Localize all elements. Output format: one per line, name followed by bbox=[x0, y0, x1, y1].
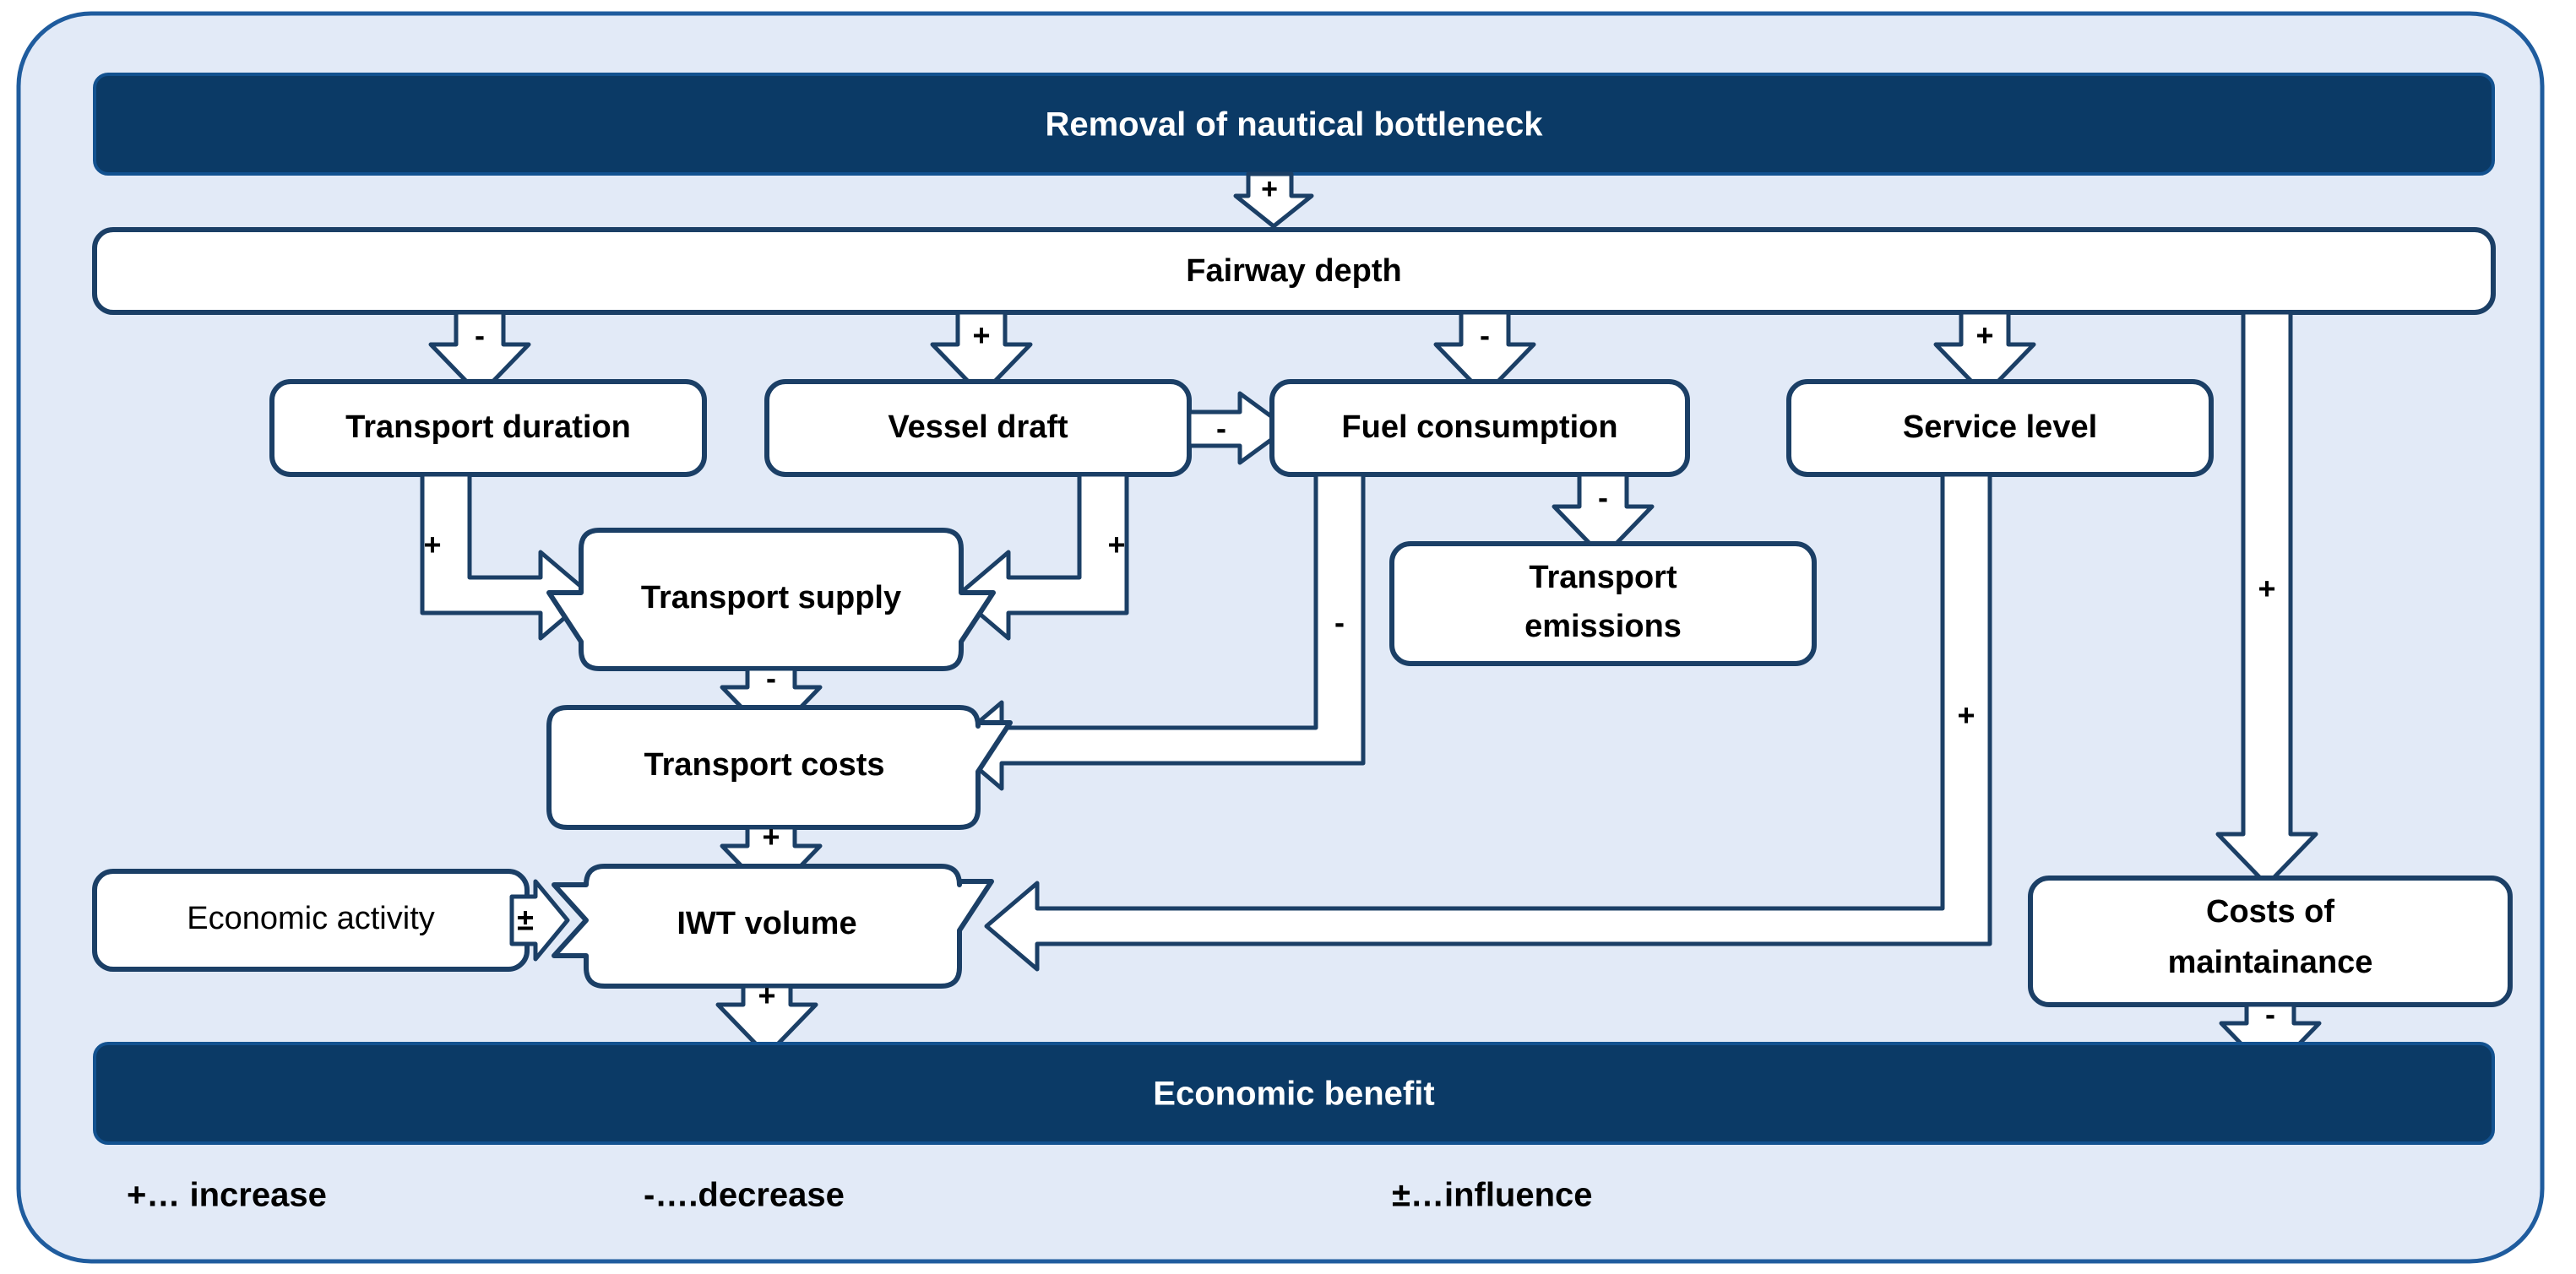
edge-fairway-depth-to-costs-of-maintainance-sign: + bbox=[2258, 572, 2275, 606]
edge-fairway-depth-to-service-level-sign: + bbox=[1975, 318, 1993, 353]
node-transport-costs-label: Transport costs bbox=[644, 747, 884, 783]
band-economic-benefit-label: Economic benefit bbox=[1153, 1076, 1434, 1113]
edge-fairway-depth-to-fuel-consumption-sign: - bbox=[1480, 318, 1490, 353]
edge-costs-of-maintainance-to-economic-benefit-sign: - bbox=[2265, 997, 2275, 1032]
node-fairway-depth: Fairway depth bbox=[95, 230, 2493, 312]
node-transport-duration-label: Transport duration bbox=[345, 409, 631, 445]
edge-vessel-draft-to-fuel-consumption-sign: - bbox=[1216, 411, 1226, 446]
node-vessel-draft-label: Vessel draft bbox=[888, 409, 1068, 445]
node-fuel-consumption-label: Fuel consumption bbox=[1341, 409, 1617, 445]
node-transport-duration: Transport duration bbox=[272, 382, 704, 474]
band-removal-label: Removal of nautical bottleneck bbox=[1045, 106, 1543, 144]
node-transport-supply: Transport supply bbox=[549, 530, 993, 669]
node-transport-costs: Transport costs bbox=[549, 707, 1010, 827]
node-transport-supply-label: Transport supply bbox=[641, 580, 901, 615]
band-removal-of-nautical-bottleneck: Removal of nautical bottleneck bbox=[95, 74, 2493, 174]
edge-transport-duration-to-transport-supply-sign: + bbox=[423, 528, 441, 562]
node-iwt-volume: IWT volume bbox=[554, 866, 992, 986]
edge-fuel-consumption-to-transport-costs-sign: - bbox=[1334, 605, 1345, 640]
legend-item-decrease: -….decrease bbox=[644, 1177, 845, 1214]
node-transport-emissions: Transport emissions bbox=[1392, 544, 1814, 664]
edge-removal-to-fairway-depth-sign: + bbox=[1261, 173, 1278, 205]
edge-vessel-draft-to-transport-supply-sign: + bbox=[1107, 528, 1125, 562]
diagram-canvas: Removal of nautical bottleneck + Fairway… bbox=[0, 0, 2576, 1274]
node-fuel-consumption: Fuel consumption bbox=[1272, 382, 1687, 474]
node-transport-emissions-label-line1: Transport bbox=[1529, 560, 1677, 595]
edge-fairway-depth-to-transport-duration-sign: - bbox=[475, 318, 485, 353]
band-economic-benefit: Economic benefit bbox=[95, 1044, 2493, 1143]
node-iwt-volume-label: IWT volume bbox=[677, 906, 856, 941]
edge-fairway-depth-to-vessel-draft-sign: + bbox=[972, 318, 990, 353]
edge-service-level-to-iwt-volume-sign: + bbox=[1957, 698, 1975, 733]
node-fairway-depth-label: Fairway depth bbox=[1186, 253, 1402, 289]
edge-iwt-volume-to-economic-benefit-sign: + bbox=[758, 979, 775, 1013]
node-costs-of-maintainance: Costs of maintainance bbox=[2030, 878, 2510, 1005]
node-service-level: Service level bbox=[1789, 382, 2211, 474]
node-vessel-draft: Vessel draft bbox=[767, 382, 1189, 474]
legend-item-increase: +… increase bbox=[127, 1177, 327, 1214]
node-costs-of-maintainance-label-line1: Costs of bbox=[2206, 894, 2334, 930]
node-costs-of-maintainance-label-line2: maintainance bbox=[2168, 945, 2373, 980]
node-service-level-label: Service level bbox=[1903, 409, 2097, 445]
edge-economic-activity-to-iwt-volume-sign: ± bbox=[517, 903, 534, 937]
edge-transport-supply-to-transport-costs-sign: - bbox=[766, 661, 776, 696]
edge-transport-costs-to-iwt-volume-sign: + bbox=[762, 820, 780, 854]
node-transport-emissions-label-line2: emissions bbox=[1524, 609, 1682, 644]
legend-item-influence: ±…influence bbox=[1392, 1177, 1593, 1214]
edge-fuel-consumption-to-transport-emissions-sign: - bbox=[1598, 480, 1608, 515]
node-economic-activity-label: Economic activity bbox=[187, 901, 435, 936]
node-economic-activity: Economic activity bbox=[95, 871, 527, 969]
